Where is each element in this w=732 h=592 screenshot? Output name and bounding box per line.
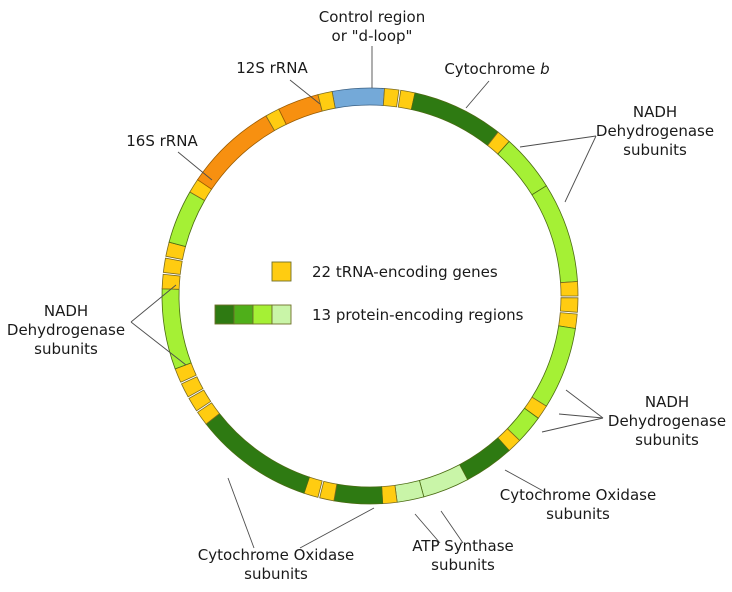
genome-segment: tRNA [561,281,578,296]
genome-segment: Cytochrome b [411,93,498,146]
legend-swatch [215,305,234,324]
annotation-label-atp-synthase: ATP Synthasesubunits [412,537,514,574]
genome-segment: ATP Synthase subunit 6 [419,465,467,497]
annotation-label-12s-rrna: 12S rRNA [236,59,308,77]
annotation-line: subunits [546,505,610,523]
genome-segment: tRNA [162,274,180,289]
annotation-line: Cytochrome Oxidase [198,546,354,564]
legend-label-trna: 22 tRNA-encoding genes [312,263,498,281]
leader-line [466,81,489,108]
annotation-line: NADH [633,103,677,121]
genome-segment: tRNA [163,258,182,274]
genome-segment: 12S rRNA [279,95,322,125]
genome-segment: NADH dehydrogenase subunit [532,186,578,283]
leader-line [300,508,374,548]
leader-line [520,136,596,147]
legend-swatch [253,305,272,324]
genome-ring: Control region (d-loop)tRNAtRNACytochrom… [162,88,578,504]
annotation-label-cytochrome-b: Cytochrome b [444,60,549,78]
annotation-label-nadh-bottom-right: NADHDehydrogenasesubunits [608,393,726,449]
mitochondrial-genome-diagram: Control region (d-loop)tRNAtRNACytochrom… [0,0,732,592]
leader-line [566,390,603,418]
genome-segment: tRNA [320,481,337,501]
leader-lines [131,46,603,548]
annotation-line: subunits [34,340,98,358]
legend-label-protein: 13 protein-encoding regions [312,306,524,324]
annotation-line: 16S rRNA [126,132,198,150]
annotation-line: subunits [623,141,687,159]
genome-segment: Cytochrome Oxidase subunit I [206,414,309,494]
genome-segment: ATP Synthase subunit 8 [395,480,424,502]
annotation-line: Dehydrogenase [596,122,714,140]
leader-line [565,136,596,202]
legend-swatch [272,262,291,281]
annotation-line: NADH [645,393,689,411]
annotation-line: ATP Synthase [412,537,514,555]
genome-segment: Cytochrome Oxidase subunit III [460,438,510,480]
annotation-line: subunits [244,565,308,583]
annotation-label-cytochrome-oxidase-bottom: Cytochrome Oxidasesubunits [198,546,354,583]
annotation-label-control-region: Control regionor "d-loop" [319,8,425,45]
annotation-line: Cytochrome Oxidase [500,486,656,504]
genome-segment: tRNA [382,485,397,503]
annotation-line: subunits [431,556,495,574]
genome-segment: Cytochrome Oxidase subunit II [334,484,383,504]
genome-segment: NADH dehydrogenase subunit [532,326,575,406]
genome-segment: NADH dehydrogenase subunit [169,192,205,247]
leader-line [178,152,212,180]
leader-line [228,478,254,548]
annotation-line: Cytochrome b [444,60,549,78]
annotation-label-cytochrome-oxidase-right: Cytochrome Oxidasesubunits [500,486,656,523]
annotation-label-nadh-left: NADHDehydrogenasesubunits [7,302,125,358]
annotation-line: or "d-loop" [332,27,413,45]
annotation-label-nadh-top-right: NADHDehydrogenasesubunits [596,103,714,159]
annotation-line: Dehydrogenase [7,321,125,339]
annotation-line: NADH [44,302,88,320]
annotation-label-16s-rrna: 16S rRNA [126,132,198,150]
annotation-line: Control region [319,8,425,26]
legend-swatch [234,305,253,324]
genome-segment: NADH dehydrogenase subunit [498,141,547,194]
annotation-line: subunits [635,431,699,449]
genome-segment: tRNA [560,298,578,313]
legend: 22 tRNA-encoding genes13 protein-encodin… [215,262,524,324]
leader-line [542,418,603,432]
leader-line [559,414,603,418]
genome-segment: Control region (d-loop) [332,88,384,108]
annotation-line: Dehydrogenase [608,412,726,430]
legend-swatch [272,305,291,324]
genome-segment: tRNA [383,89,399,107]
annotation-line: 12S rRNA [236,59,308,77]
genome-segment: NADH dehydrogenase subunit [162,289,191,369]
italic-gene-symbol: b [540,60,550,78]
